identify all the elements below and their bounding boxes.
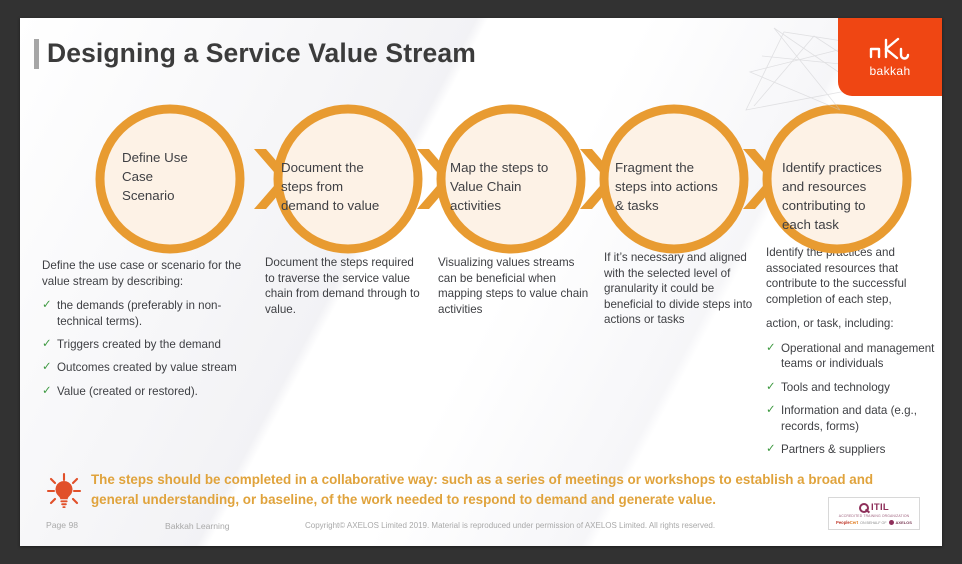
lightbulb-icon: [46, 472, 82, 510]
column-lead-text: Visualizing values streams can be benefi…: [438, 255, 596, 317]
footer-copyright: Copyright© AXELOS Limited 2019. Material…: [305, 521, 715, 530]
check-icon: ✓: [42, 337, 52, 352]
badge-title: ITIL: [871, 502, 889, 513]
column-define-use-case: Define the use case or scenario for the …: [42, 258, 242, 407]
peoplecert-logo: PeopleCert: [836, 520, 858, 525]
list-item: ✓Tools and technology: [766, 380, 942, 395]
column-lead-text-2: action, or task, including:: [766, 316, 942, 332]
column-lead-text: Document the steps required to traverse …: [265, 255, 425, 317]
check-icon: ✓: [42, 384, 52, 399]
check-icon: ✓: [766, 380, 776, 395]
badge-title-row: ITIL: [859, 502, 889, 513]
itil-ring-icon: [859, 503, 869, 513]
column-checklist: ✓Operational and management teams or ind…: [766, 341, 942, 457]
slide-canvas: Designing a Service Value Stream bakkah: [20, 18, 942, 546]
check-icon: ✓: [766, 341, 776, 356]
flow-node-label-2: Document the steps from demand to value: [281, 158, 407, 215]
page-title-group: Designing a Service Value Stream: [34, 38, 476, 69]
bakkah-mark-icon: [867, 36, 913, 62]
list-item: ✓Triggers created by the demand: [42, 337, 242, 352]
slide-footer: Page 98 Bakkah Learning Copyright© AXELO…: [20, 520, 942, 538]
axelos-dot-icon: [889, 520, 894, 525]
flow-node-label-3: Map the steps to Value Chain activities: [450, 158, 582, 215]
bakkah-logo-text: bakkah: [869, 64, 910, 78]
badge-on-behalf-of: ON BEHALF OF: [860, 521, 886, 525]
axelos-logo-text: AXELOS: [896, 520, 912, 525]
itil-accreditation-badge: ITIL ACCREDITED TRAINING ORGANIZATION Pe…: [828, 497, 920, 530]
check-icon: ✓: [766, 403, 776, 418]
footer-organization: Bakkah Learning: [165, 521, 230, 531]
flow-node-label-5: Identify practices and resources contrib…: [782, 158, 910, 234]
list-item: ✓Partners & suppliers: [766, 442, 942, 457]
list-item: ✓Value (created or restored).: [42, 384, 242, 399]
list-item: ✓Operational and management teams or ind…: [766, 341, 942, 372]
badge-subtitle: ACCREDITED TRAINING ORGANIZATION: [839, 514, 909, 518]
footer-page-number: Page 98: [46, 520, 78, 530]
check-icon: ✓: [42, 298, 52, 313]
column-checklist: ✓the demands (preferably in non-technica…: [42, 298, 242, 399]
flow-node-label-1: Define Use Case Scenario: [122, 148, 242, 205]
flow-node-label-4: Fragment the steps into actions & tasks: [615, 158, 749, 215]
title-accent-bar: [34, 39, 39, 69]
callout-banner: The steps should be completed in a colla…: [46, 470, 876, 510]
callout-text: The steps should be completed in a colla…: [91, 470, 876, 510]
badge-partner-row: PeopleCert ON BEHALF OF AXELOS: [836, 520, 912, 525]
column-map-steps: Visualizing values streams can be benefi…: [438, 255, 596, 326]
check-icon: ✓: [766, 442, 776, 457]
bakkah-logo: bakkah: [838, 18, 942, 96]
column-identify-practices: Identify the practices and associated re…: [766, 245, 942, 465]
check-icon: ✓: [42, 360, 52, 375]
list-item: ✓Information and data (e.g., records, fo…: [766, 403, 942, 434]
column-document-steps: Document the steps required to traverse …: [265, 255, 425, 326]
page-title: Designing a Service Value Stream: [47, 38, 476, 69]
list-item: ✓the demands (preferably in non-technica…: [42, 298, 242, 329]
list-item: ✓Outcomes created by value stream: [42, 360, 242, 375]
